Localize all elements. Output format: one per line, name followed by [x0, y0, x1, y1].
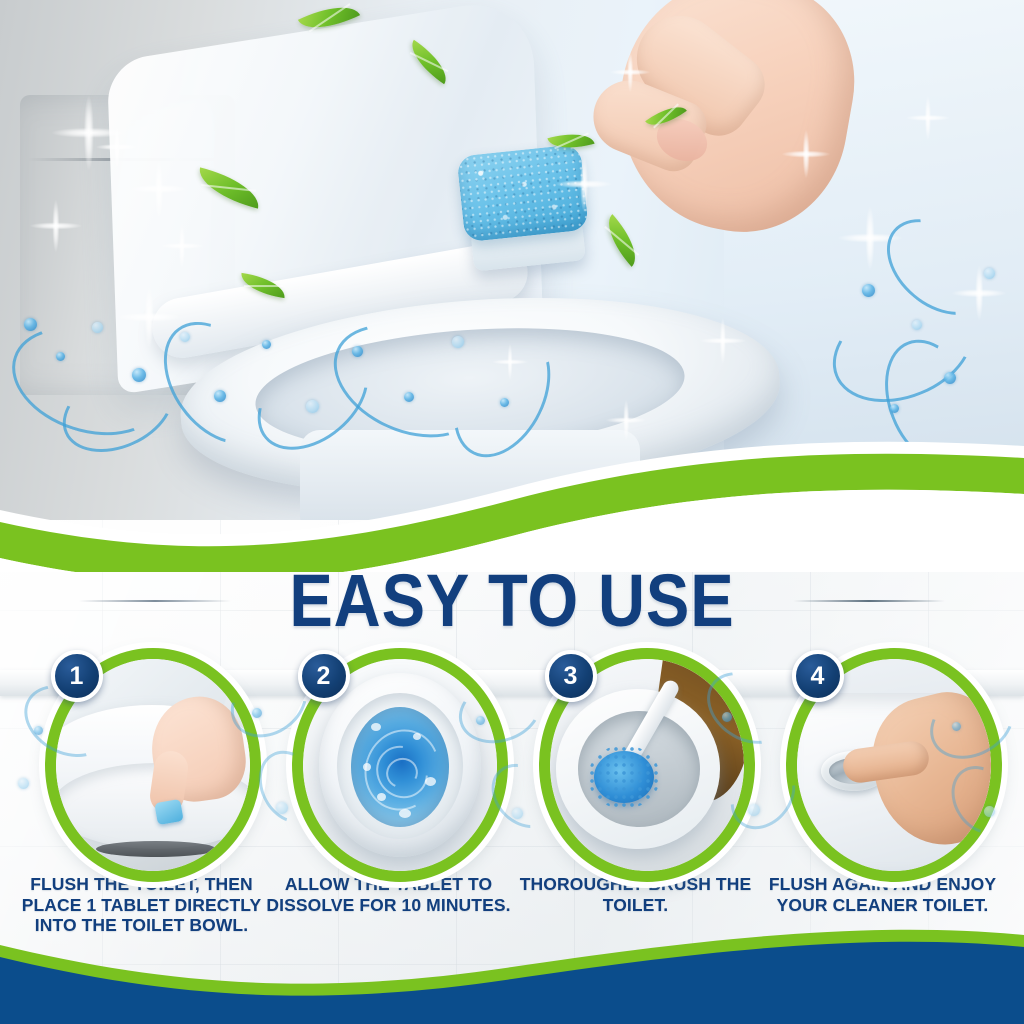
- water-droplet: [862, 284, 875, 297]
- product-infographic: EASY TO USE: [0, 0, 1024, 1024]
- section-title-row: EASY TO USE: [0, 566, 1024, 636]
- hand-holding-tablet: [560, 0, 860, 300]
- water-droplet: [306, 400, 319, 413]
- blue-tablet: [154, 799, 183, 825]
- water-droplet: [944, 372, 956, 384]
- water-droplet: [404, 392, 414, 402]
- water-droplet: [132, 368, 146, 382]
- water-foam: [377, 793, 386, 801]
- water-droplet: [214, 390, 226, 402]
- water-droplet: [180, 332, 190, 342]
- step-number-badge: 3: [545, 650, 597, 702]
- title-rule-right: [793, 600, 945, 602]
- water-foam: [363, 763, 371, 771]
- title-rule-left: [79, 600, 231, 602]
- blue-swirling-water: [351, 707, 449, 827]
- water-droplet: [276, 802, 288, 814]
- water-droplet: [984, 268, 995, 279]
- water-droplet: [500, 398, 509, 407]
- water-droplet: [352, 346, 363, 357]
- step-photo-blue-water-dissolving: 2: [292, 648, 486, 860]
- step-number-badge: 4: [792, 650, 844, 702]
- step-photo-brushing-toilet: 3: [539, 648, 733, 860]
- water-droplet: [984, 806, 995, 817]
- green-wave-divider: [0, 432, 1024, 572]
- water-droplet: [952, 722, 961, 731]
- bowl-opening: [96, 841, 216, 857]
- bottom-wave-band: [0, 909, 1024, 1024]
- step-number-badge: 2: [298, 650, 350, 702]
- water-droplet: [452, 336, 464, 348]
- page-title: EASY TO USE: [289, 564, 734, 638]
- step-number-badge: 1: [51, 650, 103, 702]
- water-droplet: [252, 708, 262, 718]
- water-droplet: [748, 804, 760, 816]
- water-foam: [371, 723, 381, 731]
- water-foam: [413, 733, 421, 740]
- water-droplet: [722, 712, 732, 722]
- tablet-speckle-texture: [456, 144, 588, 242]
- water-droplet: [24, 318, 37, 331]
- water-foam: [425, 777, 436, 786]
- water-droplet: [890, 404, 899, 413]
- water-droplet: [56, 352, 65, 361]
- water-droplet: [34, 726, 43, 735]
- water-droplet: [262, 340, 271, 349]
- water-droplet: [92, 322, 103, 333]
- water-droplet: [18, 778, 29, 789]
- tablet-blue-top: [456, 144, 588, 242]
- step-item: 1 FLUSH THE TOILET, THEN PLACE 1 TABLET …: [27, 648, 257, 936]
- water-droplet: [512, 808, 523, 819]
- toilet-brush-head: [594, 751, 654, 803]
- blue-effervescent-tablet: [456, 144, 591, 268]
- water-foam: [399, 809, 411, 818]
- water-droplet: [476, 716, 485, 725]
- water-droplet: [912, 320, 922, 330]
